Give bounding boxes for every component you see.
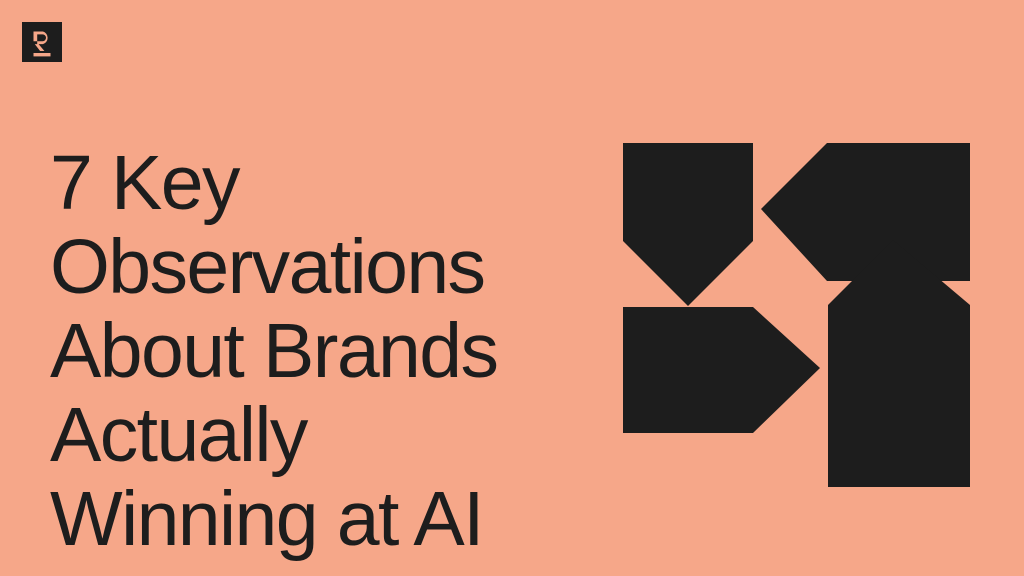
pinwheel-pentagon-graphic bbox=[623, 143, 970, 487]
pentagon-pointing-down-shape bbox=[623, 143, 753, 306]
headline-line-3: About Brands bbox=[50, 309, 650, 393]
page-title: 7 Key Observations About Brands Actually… bbox=[50, 141, 650, 561]
r-monogram-logo[interactable] bbox=[22, 22, 62, 62]
slide-canvas: 7 Key Observations About Brands Actually… bbox=[0, 0, 1024, 576]
headline-line-4: Actually bbox=[50, 393, 650, 477]
headline-line-1: 7 Key bbox=[50, 141, 650, 225]
pentagon-pointing-right-shape bbox=[623, 307, 820, 433]
r-monogram-icon bbox=[22, 22, 62, 62]
pentagon-pointing-left-shape bbox=[761, 143, 970, 281]
headline-line-2: Observations bbox=[50, 225, 650, 309]
pinwheel-pentagon-mark bbox=[623, 143, 970, 487]
headline-line-5: Winning at AI bbox=[50, 477, 650, 561]
